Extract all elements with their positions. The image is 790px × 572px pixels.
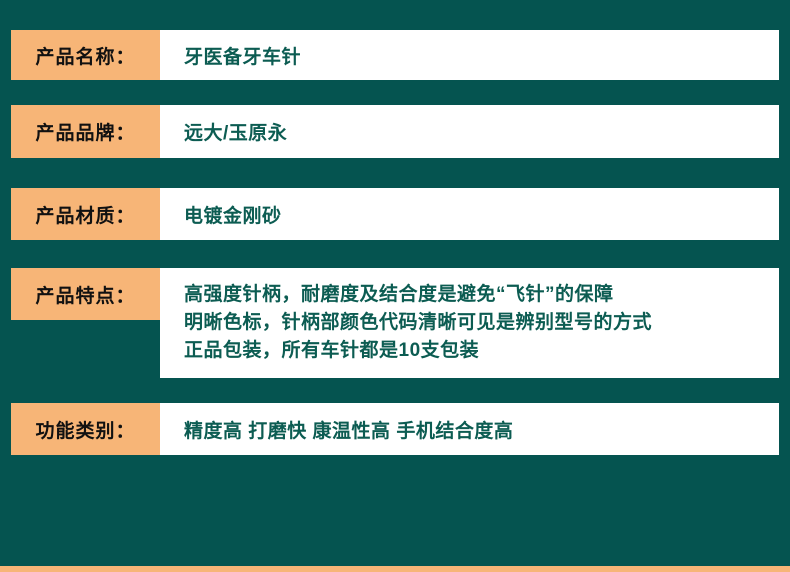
spec-value-product-brand: 远大/玉原永: [160, 105, 779, 158]
spec-row: 功能类别： 精度高 打磨快 康温性高 手机结合度高: [11, 403, 779, 455]
spec-sheet: 产品名称： 牙医备牙车针 产品品牌： 远大/玉原永 产品材质： 电镀金刚砂 产品…: [0, 0, 790, 572]
spec-row: 产品材质： 电镀金刚砂: [11, 188, 779, 240]
spec-label-product-name: 产品名称：: [11, 30, 160, 80]
spec-label-function-category: 功能类别：: [11, 403, 160, 455]
bottom-accent-strip: [0, 566, 790, 572]
spec-value-function-category: 精度高 打磨快 康温性高 手机结合度高: [160, 403, 779, 455]
spec-label-product-material: 产品材质：: [11, 188, 160, 240]
spec-row: 产品品牌： 远大/玉原永: [11, 105, 779, 158]
spec-label-product-brand: 产品品牌：: [11, 105, 160, 158]
spec-value-product-features: 高强度针柄，耐磨度及结合度是避免“飞针”的保障 明晰色标，针柄部颜色代码清晰可见…: [160, 268, 779, 378]
spec-value-product-name: 牙医备牙车针: [160, 30, 779, 80]
spec-value-product-material: 电镀金刚砂: [160, 188, 779, 240]
spec-row: 产品名称： 牙医备牙车针: [11, 30, 779, 80]
spec-label-product-features: 产品特点：: [11, 268, 160, 320]
spec-row: 产品特点： 高强度针柄，耐磨度及结合度是避免“飞针”的保障 明晰色标，针柄部颜色…: [11, 268, 779, 378]
